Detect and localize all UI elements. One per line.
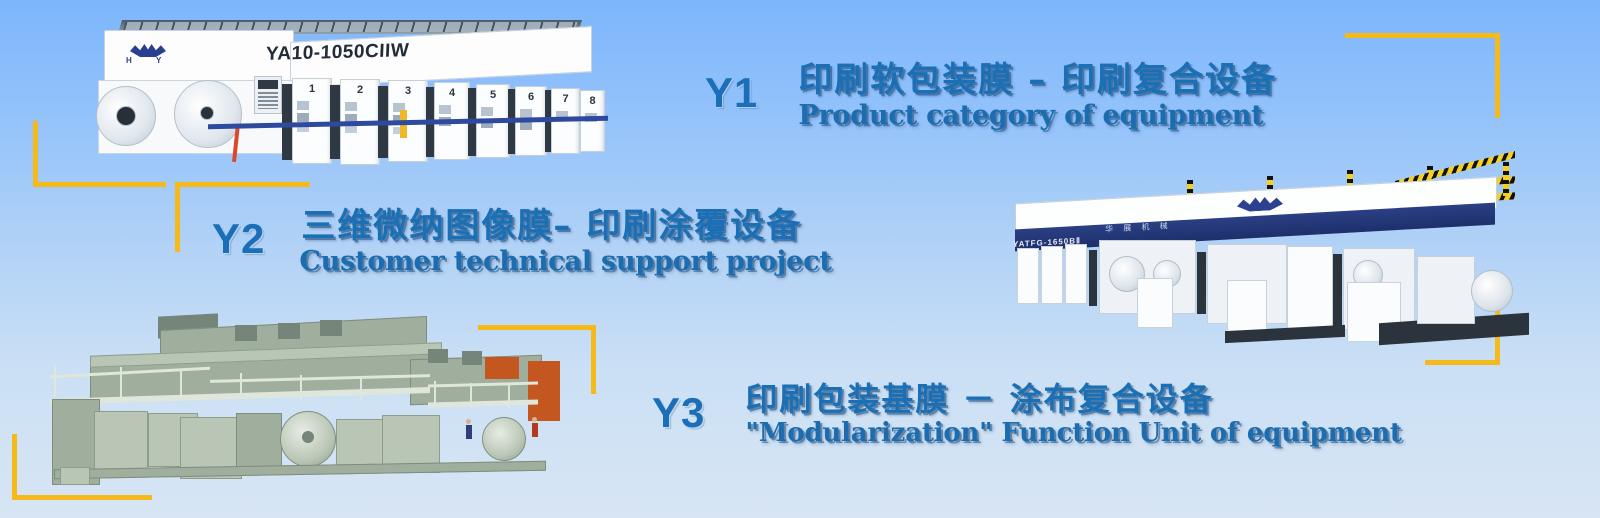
- product-category-banner: H Y YA10-1050CIIW 1 2: [0, 0, 1600, 518]
- entry-subtitle-en-y1: Product category of equipment: [798, 102, 1277, 130]
- coater-foot: [60, 467, 90, 485]
- coater-rail-post: [360, 377, 362, 401]
- entry-code-y1: Y1: [705, 72, 758, 114]
- coater-rail-post: [180, 369, 182, 397]
- entry-code-y2: Y2: [212, 218, 265, 260]
- press-unit-number: 3: [389, 85, 427, 97]
- coater-rail-post: [300, 375, 302, 401]
- press-unit-number: 8: [581, 95, 604, 107]
- laminator-column: [1017, 248, 1039, 304]
- coater-worker-body-2: [532, 423, 538, 437]
- laminator-shadow-gap: [1197, 252, 1206, 314]
- bracket-y2-left-vertical: [175, 182, 180, 252]
- entry-block-y2: Y2 三维微纳图像膜– 印刷涂覆设备 Customer technical su…: [212, 208, 832, 276]
- bracket-y1-left-vertical: [33, 121, 38, 186]
- laminator-column: [1041, 246, 1063, 304]
- unit-panel-a: [481, 107, 493, 116]
- entry-subtitle-en-y3: "Modularization" Function Unit of equipm…: [745, 420, 1401, 447]
- laminator-cabinet: [1227, 280, 1267, 334]
- entry-text-y2: 三维微纳图像膜– 印刷涂覆设备 Customer technical suppo…: [301, 208, 831, 276]
- coater-worker-head-2: [532, 417, 537, 422]
- coater-drum-core: [302, 431, 314, 443]
- press-unit-number: 2: [341, 84, 379, 96]
- bracket-y3-right-horizontal: [1425, 360, 1500, 365]
- unit-panel-a: [345, 102, 357, 111]
- unit-panel-c: [345, 126, 357, 133]
- press-unit-number: 4: [435, 87, 469, 99]
- laminator-shadow-gap: [1089, 250, 1097, 306]
- unit-panel-a: [297, 101, 309, 110]
- coater-rail-post: [240, 373, 242, 399]
- press-unwind-reel-small: [116, 106, 136, 126]
- bracket-y1-top-horizontal: [1345, 33, 1500, 38]
- coater-worker-body: [466, 425, 472, 439]
- coater-rail-post: [508, 385, 510, 409]
- press-model-label: YA10-1050CIIW: [265, 40, 409, 66]
- control-panel-keypad: [258, 92, 278, 109]
- bracket-y1-right-vertical: [1495, 33, 1500, 118]
- entry-text-y3: 印刷包装基膜 － 涂布复合设备 "Modularization" Functio…: [745, 382, 1401, 447]
- entry-title-cn-y2: 三维微纳图像膜– 印刷涂覆设备: [301, 208, 831, 245]
- machine-image-laminating-line: 华 展 机 械 YATFG-1650BⅡ: [975, 160, 1535, 345]
- laminator-rewind-roll: [1471, 270, 1513, 312]
- unit-panel-a: [439, 105, 451, 114]
- coater-machine-block: [236, 413, 282, 467]
- coater-worker-head: [466, 419, 471, 424]
- press-unit-number: 5: [477, 89, 509, 101]
- coater-rewind-drum: [482, 417, 526, 461]
- coater-motor: [462, 351, 482, 365]
- laminator-cabinet: [1137, 278, 1173, 328]
- entry-text-y1: 印刷软包装膜 – 印刷复合设备 Product category of equi…: [798, 62, 1277, 130]
- bracket-y3-mid-vertical: [591, 325, 596, 394]
- coater-rail-post: [54, 365, 56, 397]
- control-panel-screen: [258, 80, 278, 89]
- laminator-cabinet: [1287, 246, 1333, 334]
- unit-panel-b: [297, 113, 309, 122]
- entry-block-y1: Y1 印刷软包装膜 – 印刷复合设备 Product category of e…: [705, 62, 1277, 130]
- laminator-rewind-section: [1417, 256, 1475, 324]
- coater-motor: [235, 325, 257, 341]
- bracket-y2-top-horizontal: [175, 182, 310, 187]
- bracket-y1-bottom-horizontal: [33, 182, 166, 187]
- coater-motor: [428, 349, 448, 363]
- entry-title-cn-y3: 印刷包装基膜 － 涂布复合设备: [745, 382, 1401, 417]
- press-rewind-core: [200, 106, 214, 120]
- coater-orange-unit: [485, 357, 519, 379]
- entry-subtitle-en-y2: Customer technical support project: [299, 248, 831, 276]
- safety-rail-post: [1503, 162, 1509, 196]
- coater-machine-block: [94, 411, 148, 471]
- press-control-panel: [254, 76, 282, 114]
- press-brand-logo: H Y: [120, 44, 174, 66]
- coater-rail-post: [470, 383, 472, 407]
- coater-rail-post: [434, 381, 436, 405]
- coater-motor: [278, 323, 300, 339]
- machine-image-printing-press: H Y YA10-1050CIIW 1 2: [58, 14, 603, 179]
- logo-letter-h: H: [126, 56, 132, 65]
- logo-letter-y: Y: [156, 56, 161, 65]
- press-unit-number: 6: [516, 91, 546, 103]
- bracket-y3-left-vertical: [12, 434, 17, 500]
- press-unit-number: 7: [552, 93, 579, 105]
- entry-code-y3: Y3: [652, 392, 705, 434]
- laminator-shadow-gap: [1333, 254, 1342, 326]
- coater-motor: [320, 320, 342, 336]
- laminator-column: [1065, 244, 1087, 304]
- coater-orange-end: [528, 361, 560, 421]
- entry-block-y3: Y3 印刷包装基膜 － 涂布复合设备 "Modularization" Func…: [652, 382, 1402, 447]
- press-unit-number: 1: [293, 83, 331, 95]
- bracket-y3-bottom-horizontal: [12, 495, 152, 500]
- coater-rail-post: [120, 367, 122, 397]
- entry-title-cn-y1: 印刷软包装膜 – 印刷复合设备: [798, 62, 1277, 99]
- machine-image-coating-line: [30, 305, 575, 480]
